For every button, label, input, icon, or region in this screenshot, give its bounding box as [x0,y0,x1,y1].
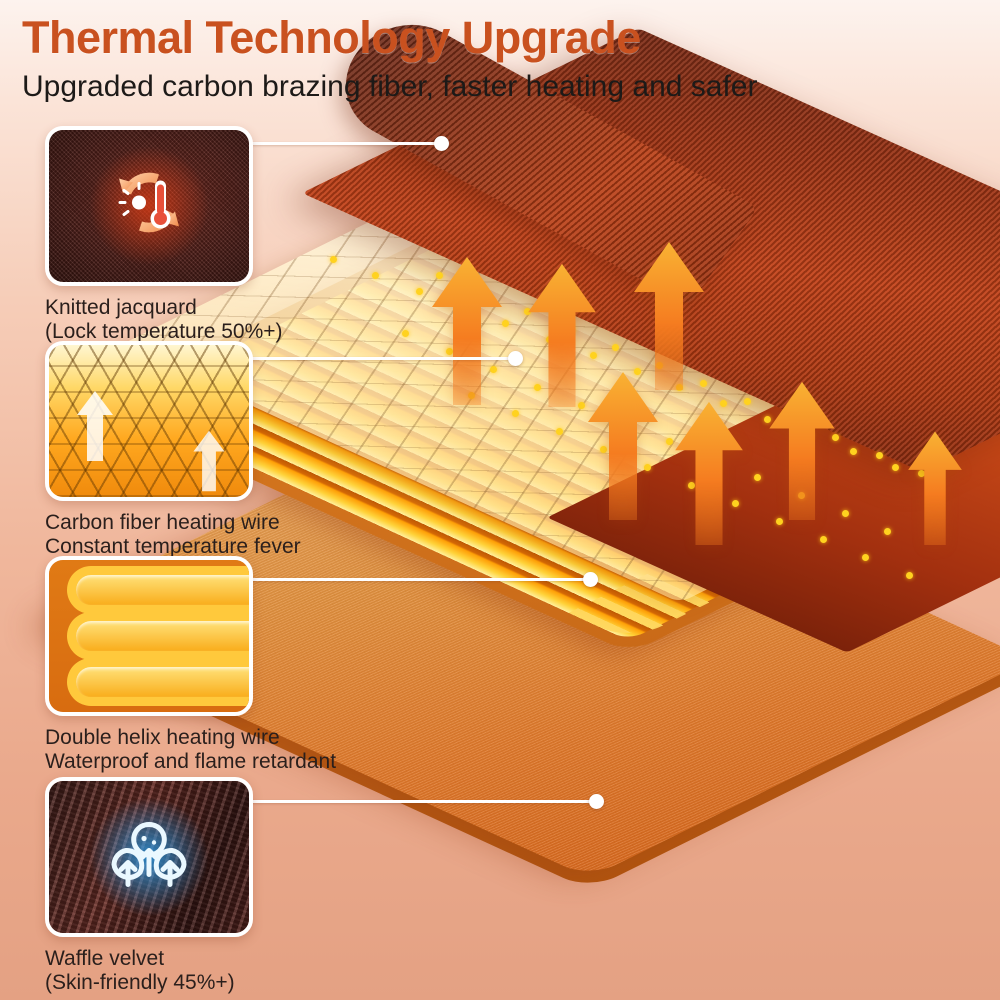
heat-arrow-5 [672,400,746,545]
feature-line-2: Constant temperature fever [45,535,255,559]
feature-caption-carbon-fiber: Carbon fiber heating wire Constant tempe… [45,511,255,558]
feature-thumbnail-double-helix[interactable] [45,556,253,716]
feature-caption-knitted-jacquard: Knitted jacquard (Lock temperature 50%+) [45,296,255,343]
honeycomb-up-arrow-2 [191,429,227,493]
mesh-node-dot [512,410,519,417]
mesh-node-dot [876,452,883,459]
feature-list: Knitted jacquard (Lock temperature 50%+)… [0,0,420,1000]
feature-thumbnail-waffle-velvet[interactable] [45,777,253,937]
connector-dot-2 [508,351,523,366]
feature-double-helix-heating-wire[interactable]: Double helix heating wire Waterproof and… [45,556,255,773]
feature-line-1: Knitted jacquard [45,296,255,320]
heat-arrow-7 [905,430,965,545]
connector-dot-3 [583,572,598,587]
feature-line-1: Waffle velvet [45,947,255,971]
infographic-canvas: Thermal Technology Upgrade Upgraded carb… [0,0,1000,1000]
feature-line-2: (Skin-friendly 45%+) [45,971,255,995]
mesh-node-dot [892,464,899,471]
mesh-node-dot [850,448,857,455]
mesh-node-dot [884,528,891,535]
mesh-node-dot [754,474,761,481]
cotton-soft-arrows-icon [106,817,192,898]
feature-line-2: (Lock temperature 50%+) [45,320,255,344]
serpentine-wire-icon [49,560,249,712]
feature-thumbnail-carbon-fiber[interactable] [45,341,253,501]
heat-arrow-4 [585,370,661,520]
feature-caption-waffle-velvet: Waffle velvet (Skin-friendly 45%+) [45,947,255,994]
feature-caption-double-helix: Double helix heating wire Waterproof and… [45,726,255,773]
feature-thumbnail-knitted-jacquard[interactable] [45,126,253,286]
heat-arrow-1 [430,255,504,405]
honeycomb-up-arrow-1 [75,389,115,463]
mesh-node-dot [906,572,913,579]
feature-line-1: Carbon fiber heating wire [45,511,255,535]
feature-waffle-velvet[interactable]: Waffle velvet (Skin-friendly 45%+) [45,777,255,994]
feature-knitted-jacquard[interactable]: Knitted jacquard (Lock temperature 50%+) [45,126,255,343]
feature-line-1: Double helix heating wire [45,726,255,750]
feature-carbon-fiber-heating-wire[interactable]: Carbon fiber heating wire Constant tempe… [45,341,255,558]
mesh-node-dot [820,536,827,543]
mesh-node-dot [842,510,849,517]
connector-dot-1 [434,136,449,151]
heat-arrow-3 [630,240,708,390]
mesh-node-dot [862,554,869,561]
thermometer-sun-recycle-icon [103,161,195,252]
mesh-node-dot [556,428,563,435]
mesh-node-dot [612,344,619,351]
feature-line-2: Waterproof and flame retardant [45,750,255,774]
heat-arrow-6 [765,380,839,520]
connector-dot-4 [589,794,604,809]
